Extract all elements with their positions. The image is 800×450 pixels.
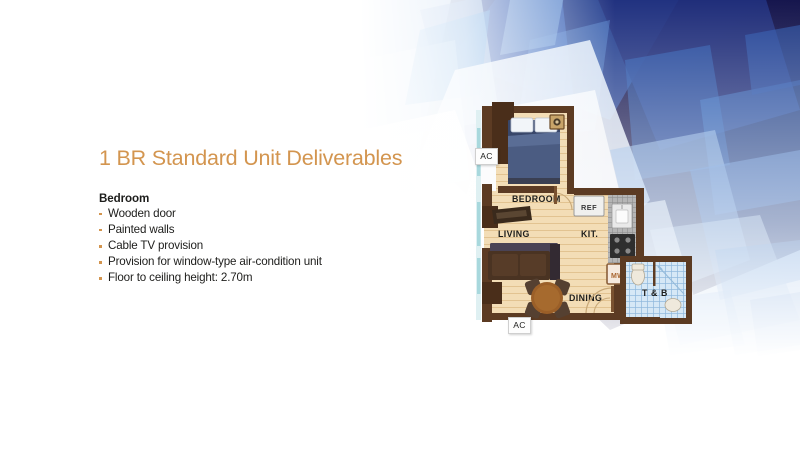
bullet-icon (99, 213, 102, 216)
list-item: Wooden door (99, 206, 439, 222)
bullet-icon (99, 277, 102, 280)
content-text-block: 1 BR Standard Unit Deliverables Bedroom … (99, 146, 439, 286)
list-item: Provision for window-type air-condition … (99, 254, 439, 270)
deliverables-section: Bedroom Wooden door Painted walls Cable … (99, 192, 439, 287)
ac-label-left: AC (475, 148, 498, 165)
bullet-icon (99, 261, 102, 264)
slide-canvas: 1 BR Standard Unit Deliverables Bedroom … (0, 0, 800, 450)
appliance-label-ref: REF (581, 203, 597, 212)
page-title: 1 BR Standard Unit Deliverables (99, 146, 439, 171)
bedroom-furniture (508, 115, 564, 184)
bullet-icon (99, 245, 102, 248)
room-label-dining: DINING (569, 293, 602, 303)
list-item: Painted walls (99, 222, 439, 238)
list-item-label: Cable TV provision (108, 239, 203, 252)
room-label-bedroom: BEDROOM (512, 194, 561, 204)
list-item: Cable TV provision (99, 238, 439, 254)
toilet-icon (632, 264, 645, 285)
stove-icon (610, 234, 635, 258)
window-glazing (476, 110, 481, 320)
room-label-kitchen: KIT. (581, 229, 598, 239)
ac-label-bottom: AC (508, 317, 531, 334)
room-label-living: LIVING (498, 229, 530, 239)
bullet-icon (99, 229, 102, 232)
list-item-label: Floor to ceiling height: 2.70m (108, 271, 252, 284)
list-item-label: Wooden door (108, 207, 176, 220)
list-item-label: Provision for window-type air-condition … (108, 255, 322, 268)
floorplan-diagram: BEDROOM LIVING (468, 98, 708, 346)
list-item: Floor to ceiling height: 2.70m (99, 270, 439, 286)
room-label-toilet-bath: T & B (642, 288, 668, 298)
deliverables-list: Wooden door Painted walls Cable TV provi… (99, 206, 439, 287)
list-item-label: Painted walls (108, 223, 174, 236)
lavatory-icon (665, 299, 681, 312)
section-heading-bedroom: Bedroom (99, 192, 439, 205)
